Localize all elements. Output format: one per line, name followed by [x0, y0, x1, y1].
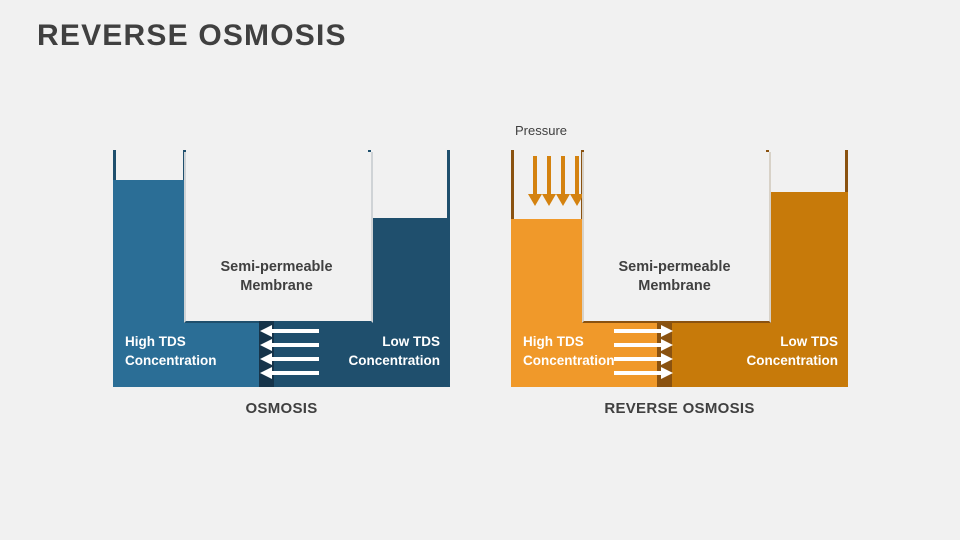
osmosis-low-tds-label: Low TDS Concentration	[328, 333, 440, 370]
page-title: REVERSE OSMOSIS	[37, 18, 347, 54]
reverse-outer-wall-right	[845, 150, 848, 194]
osmosis-flow-arrow	[271, 371, 319, 375]
reverse-membrane-chamber-label: Semi-permeable Membrane	[582, 258, 767, 297]
pressure-label: Pressure	[515, 123, 567, 138]
chamber-label-line2: Membrane	[582, 277, 767, 296]
chamber-label-line1: Semi-permeable	[582, 258, 767, 277]
pressure-arrow	[547, 156, 551, 196]
reverse-osmosis-vessel: Semi-permeable Membrane High TDS Concent…	[511, 150, 848, 387]
reverse-membrane-chamber	[582, 152, 771, 323]
pressure-arrow	[561, 156, 565, 196]
osmosis-vessel: Semi-permeable Membrane High TDS Concent…	[113, 150, 450, 387]
reverse-high-tds-label: High TDS Concentration	[523, 333, 633, 370]
reverse-osmosis-diagram: Pressure Semi-permeable Membrane	[511, 150, 848, 387]
reverse-outer-wall-left	[511, 150, 514, 222]
osmosis-flow-arrow	[271, 343, 319, 347]
pressure-arrow	[575, 156, 579, 196]
osmosis-caption: OSMOSIS	[113, 400, 450, 417]
osmosis-flow-arrow	[271, 329, 319, 333]
reverse-low-tds-label: Low TDS Concentration	[726, 333, 838, 370]
osmosis-high-tds-label: High TDS Concentration	[125, 333, 235, 370]
osmosis-outer-wall-right	[447, 150, 450, 220]
osmosis-membrane-chamber-label: Semi-permeable Membrane	[184, 258, 369, 297]
reverse-osmosis-caption: REVERSE OSMOSIS	[511, 400, 848, 417]
pressure-arrow	[533, 156, 537, 196]
osmosis-membrane-chamber	[184, 152, 373, 323]
reverse-flow-arrow	[614, 371, 662, 375]
chamber-label-line2: Membrane	[184, 277, 369, 296]
slide-canvas: REVERSE OSMOSIS Semi-permeable Membrane	[0, 0, 960, 540]
chamber-label-line1: Semi-permeable	[184, 258, 369, 277]
osmosis-flow-arrow	[271, 357, 319, 361]
osmosis-diagram: Semi-permeable Membrane High TDS Concent…	[113, 150, 450, 387]
osmosis-outer-wall-left	[113, 150, 116, 182]
